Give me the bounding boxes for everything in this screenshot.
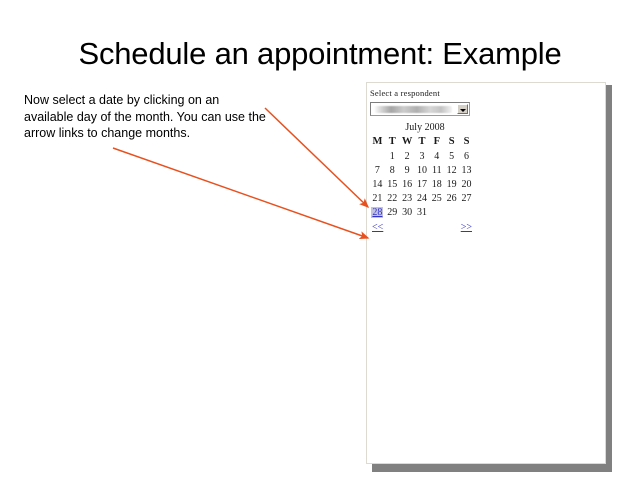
calendar-day-empty: [444, 205, 459, 219]
calendar-day-cell[interactable]: 18: [429, 177, 444, 191]
calendar-day-cell[interactable]: 15: [385, 177, 400, 191]
calendar-weekday-header: W: [400, 135, 415, 149]
calendar-day-cell[interactable]: 19: [444, 177, 459, 191]
next-month-link[interactable]: >>: [461, 222, 472, 233]
calendar-day-cell[interactable]: 6: [459, 149, 474, 163]
calendar-day-cell[interactable]: 22: [385, 191, 400, 205]
calendar-day-cell[interactable]: 28: [370, 205, 385, 219]
calendar-day-cell[interactable]: 17: [415, 177, 430, 191]
calendar-widget: Select a respondent July 2008 MTWTFSS 12…: [370, 88, 480, 234]
calendar-day-cell[interactable]: 23: [400, 191, 415, 205]
slide-canvas: Schedule an appointment: Example Now sel…: [0, 0, 640, 480]
calendar-day-cell[interactable]: 3: [415, 149, 430, 163]
calendar-day-cell[interactable]: 26: [444, 191, 459, 205]
calendar-weekday-header: S: [459, 135, 474, 149]
calendar-day-selected[interactable]: 28: [371, 207, 383, 218]
calendar-week-row: 123456: [370, 149, 474, 163]
calendar-navigation: << >>: [370, 222, 474, 234]
calendar-day-cell[interactable]: 10: [415, 163, 430, 177]
respondent-select[interactable]: [370, 102, 470, 116]
calendar-day-cell[interactable]: 24: [415, 191, 430, 205]
calendar-week-row: 28293031: [370, 205, 474, 219]
calendar-week-row: 78910111213: [370, 163, 474, 177]
calendar-day-cell[interactable]: 5: [444, 149, 459, 163]
calendar-day-cell[interactable]: 1: [385, 149, 400, 163]
respondent-label: Select a respondent: [370, 88, 480, 98]
respondent-selected-value: [374, 106, 452, 113]
calendar-month-label: July 2008: [370, 122, 480, 135]
chevron-down-icon[interactable]: [457, 104, 468, 114]
calendar-weekday-header: T: [415, 135, 430, 149]
calendar-day-cell[interactable]: 20: [459, 177, 474, 191]
calendar-day-cell[interactable]: 8: [385, 163, 400, 177]
arrow-to-month-nav-links: [113, 148, 368, 238]
previous-month-link[interactable]: <<: [372, 222, 383, 233]
calendar-day-cell[interactable]: 21: [370, 191, 385, 205]
instruction-text: Now select a date by clicking on an avai…: [24, 92, 268, 142]
calendar-day-cell[interactable]: 2: [400, 149, 415, 163]
calendar-day-cell[interactable]: 31: [415, 205, 430, 219]
calendar: July 2008 MTWTFSS 1234567891011121314151…: [370, 122, 480, 234]
calendar-day-empty: [429, 205, 444, 219]
calendar-week-row: 21222324252627: [370, 191, 474, 205]
calendar-grid: MTWTFSS 12345678910111213141516171819202…: [370, 135, 474, 219]
calendar-day-cell[interactable]: 14: [370, 177, 385, 191]
calendar-day-cell[interactable]: 27: [459, 191, 474, 205]
calendar-day-empty: [459, 205, 474, 219]
calendar-day-empty: [370, 149, 385, 163]
calendar-weekday-header: T: [385, 135, 400, 149]
page-title: Schedule an appointment: Example: [0, 36, 640, 72]
calendar-days-body: 1234567891011121314151617181920212223242…: [370, 149, 474, 219]
calendar-day-cell[interactable]: 13: [459, 163, 474, 177]
calendar-day-cell[interactable]: 16: [400, 177, 415, 191]
calendar-weekday-header: S: [444, 135, 459, 149]
calendar-day-cell[interactable]: 25: [429, 191, 444, 205]
calendar-weekday-header-row: MTWTFSS: [370, 135, 474, 149]
calendar-weekday-header: M: [370, 135, 385, 149]
calendar-day-cell[interactable]: 9: [400, 163, 415, 177]
calendar-day-cell[interactable]: 29: [385, 205, 400, 219]
calendar-day-cell[interactable]: 7: [370, 163, 385, 177]
calendar-day-cell[interactable]: 11: [429, 163, 444, 177]
calendar-day-cell[interactable]: 12: [444, 163, 459, 177]
arrow-to-selected-day: [265, 108, 368, 207]
calendar-week-row: 14151617181920: [370, 177, 474, 191]
calendar-day-cell[interactable]: 4: [429, 149, 444, 163]
calendar-weekday-header: F: [429, 135, 444, 149]
calendar-day-cell[interactable]: 30: [400, 205, 415, 219]
